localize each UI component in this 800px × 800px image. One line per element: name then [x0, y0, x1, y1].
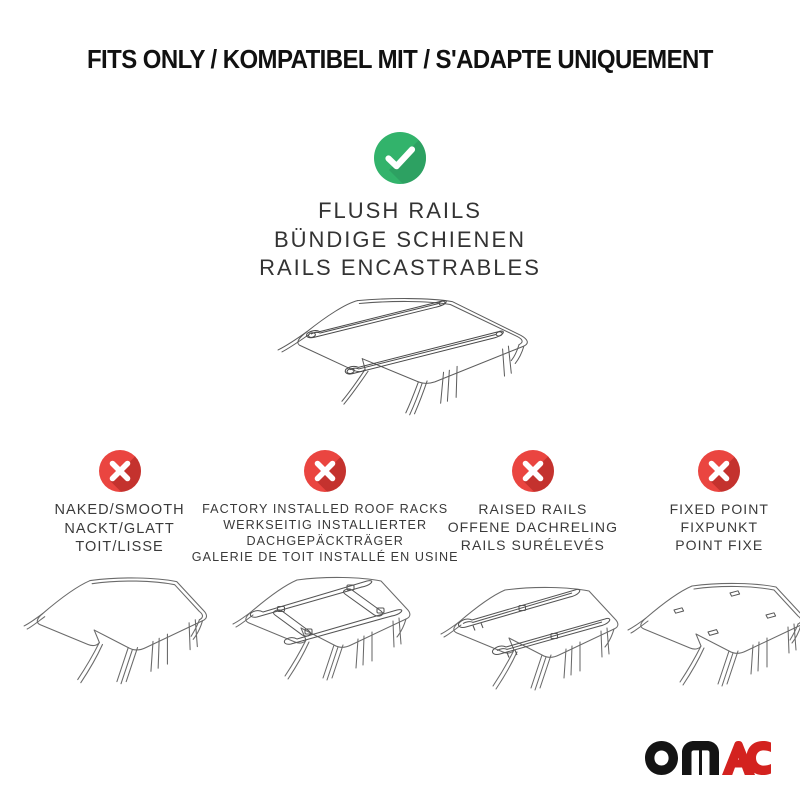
incompatible-label-fr: RAILS SURÉLEVÉS — [448, 537, 618, 555]
compatible-label-fr: RAILS ENCASTRABLES — [0, 254, 800, 283]
x-glyph — [698, 450, 740, 492]
compatible-label-de: BÜNDIGE SCHIENEN — [0, 226, 800, 255]
incompatible-label-group: FIXED POINT FIXPUNKT POINT FIXE — [670, 501, 769, 555]
x-glyph — [304, 450, 346, 492]
incompatible-section: NAKED/SMOOTH NACKT/GLATT TOIT/LISSE — [0, 450, 800, 565]
incompatible-item-fixed-point: FIXED POINT FIXPUNKT POINT FIXE — [639, 450, 800, 555]
incompatible-label-en: NAKED/SMOOTH — [54, 501, 184, 520]
compatible-label-group: FLUSH RAILS BÜNDIGE SCHIENEN RAILS ENCAS… — [0, 197, 800, 283]
x-circle-icon — [698, 450, 740, 492]
car-roof-flush-rails-illustration — [0, 289, 800, 439]
car-roof-fixed-point-illustration — [626, 562, 800, 692]
incompatible-label-de-2: DACHGEPÄCKTRÄGER — [192, 533, 459, 549]
x-circle-icon — [512, 450, 554, 492]
incompatible-label-en: FIXED POINT — [670, 501, 769, 519]
incompatible-label-fr: TOIT/LISSE — [54, 538, 184, 557]
x-circle-icon — [99, 450, 141, 492]
incompatible-item-raised-rails: RAISED RAILS OFFENE DACHRELING RAILS SUR… — [441, 450, 624, 555]
car-roof-factory-roof-racks-illustration — [225, 554, 425, 686]
car-roof-raised-rails-illustration — [435, 562, 631, 692]
check-circle-icon — [374, 132, 426, 184]
incompatible-label-de: OFFENE DACHRELING — [448, 519, 618, 537]
incompatible-label-group: NAKED/SMOOTH NACKT/GLATT TOIT/LISSE — [54, 501, 184, 557]
incompatible-label-de-1: WERKSEITIG INSTALLIERTER — [192, 517, 459, 533]
x-glyph — [512, 450, 554, 492]
incompatible-item-factory-roof-racks: FACTORY INSTALLED ROOF RACKS WERKSEITIG … — [217, 450, 433, 565]
page-title: FITS ONLY / KOMPATIBEL MIT / S'ADAPTE UN… — [87, 46, 713, 75]
omac-logo-icon — [644, 738, 772, 778]
brand-logo — [644, 738, 772, 778]
incompatible-label-de: FIXPUNKT — [670, 519, 769, 537]
car-roof-naked-smooth-illustration — [22, 562, 218, 694]
x-glyph — [99, 450, 141, 492]
compatible-section: FLUSH RAILS BÜNDIGE SCHIENEN RAILS ENCAS… — [0, 132, 800, 439]
compatible-label-en: FLUSH RAILS — [0, 197, 800, 226]
incompatible-label-group: RAISED RAILS OFFENE DACHRELING RAILS SUR… — [448, 501, 618, 555]
incompatible-label-en: RAISED RAILS — [448, 501, 618, 519]
incompatible-label-en: FACTORY INSTALLED ROOF RACKS — [192, 501, 459, 517]
header: FITS ONLY / KOMPATIBEL MIT / S'ADAPTE UN… — [0, 46, 800, 75]
incompatible-label-fr: POINT FIXE — [670, 537, 769, 555]
incompatible-label-de: NACKT/GLATT — [54, 520, 184, 539]
check-glyph — [374, 132, 426, 184]
x-circle-icon — [304, 450, 346, 492]
